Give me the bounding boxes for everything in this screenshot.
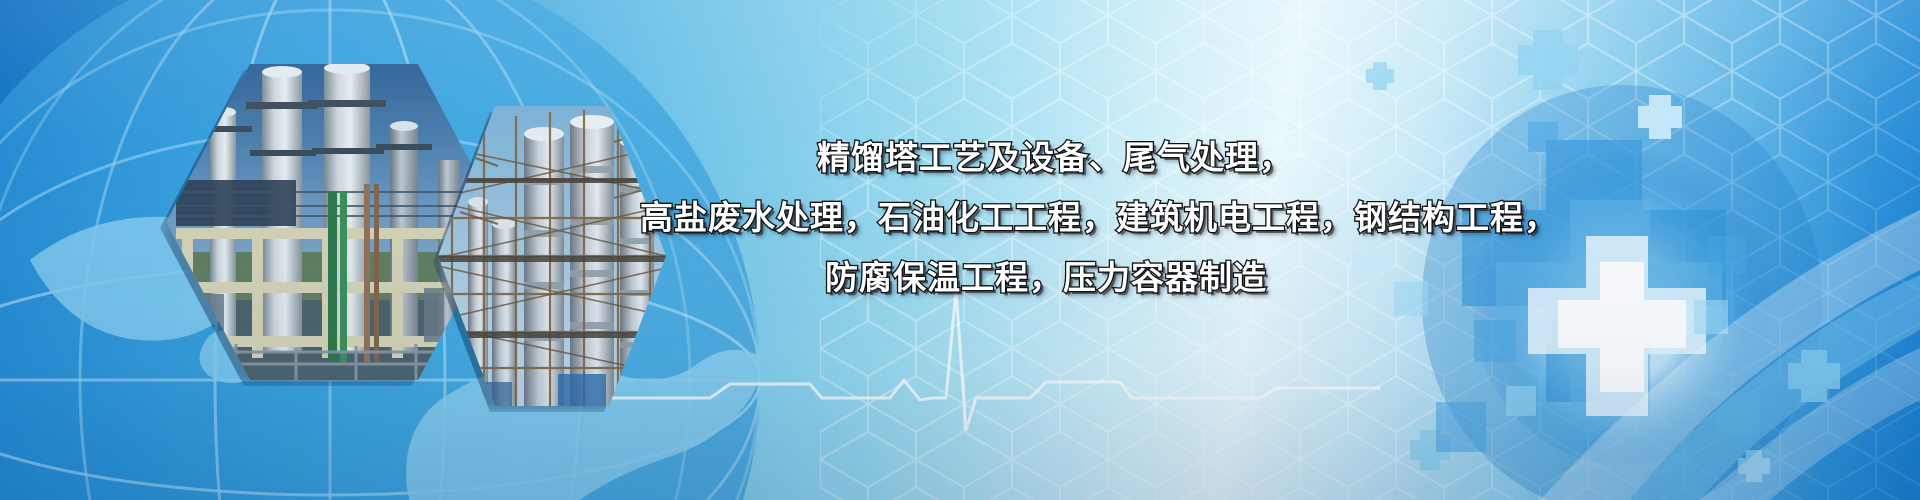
ribbon-swoosh-icon [1400, 80, 1920, 500]
headline-line-3: 防腐保温工程，压力容器制造 [652, 248, 1440, 308]
cross-mosaic-icon [1270, 0, 1920, 500]
heartbeat-waveform-icon [560, 280, 1380, 440]
hexagon-honeycomb-icon [820, 0, 1920, 500]
headline-text-block: 精馏塔工艺及设备、尾气处理， 高盐废水处理，石油化工工程，建筑机电工程，钢结构工… [640, 128, 1440, 308]
headline-line-1: 精馏塔工艺及设备、尾气处理， [670, 128, 1440, 188]
headline-line-2: 高盐废水处理，石油化工工程，建筑机电工程，钢结构工程， [640, 188, 1440, 248]
hero-banner: 精馏塔工艺及设备、尾气处理， 高盐废水处理，石油化工工程，建筑机电工程，钢结构工… [0, 0, 1920, 500]
